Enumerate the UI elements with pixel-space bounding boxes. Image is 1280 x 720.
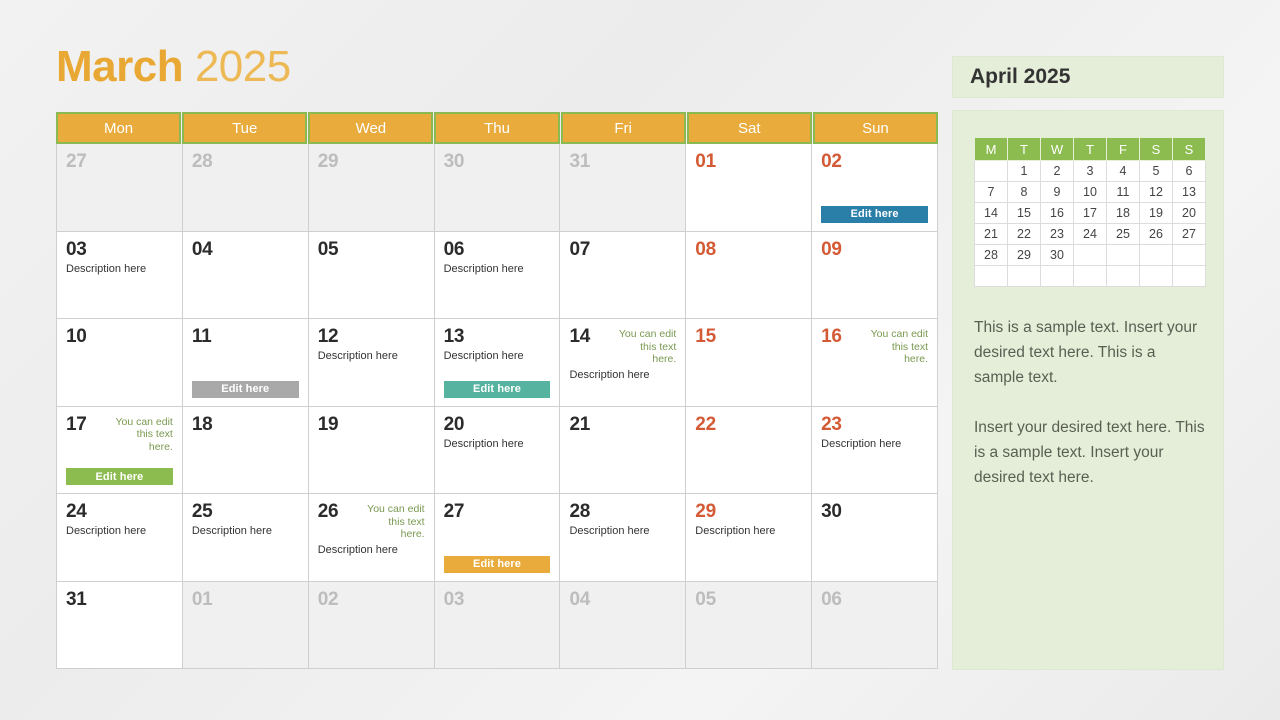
day-cell[interactable]: 27 [57,144,183,231]
day-cell[interactable]: 28 [183,144,309,231]
mini-calendar-row: 78910111213 [975,182,1206,203]
day-cell-top: 04 [569,590,676,610]
mini-day-cell[interactable]: 18 [1107,203,1140,224]
day-cell[interactable]: 05 [686,582,812,669]
calendar-week-row: 17You can edit this text here.Edit here1… [57,407,938,495]
day-cell-top: 09 [821,240,928,260]
mini-day-cell[interactable]: 25 [1107,224,1140,245]
day-number: 22 [695,415,716,435]
day-cell[interactable]: 06 [812,582,938,669]
day-cell-top: 02 [318,590,425,610]
day-number: 28 [569,502,590,522]
mini-day-cell[interactable]: 8 [1008,182,1041,203]
day-cell-top: 22 [695,415,802,435]
day-number: 11 [192,327,212,347]
day-cell[interactable]: 21 [560,407,686,494]
day-cell-top: 06 [821,590,928,610]
day-number: 19 [318,415,339,435]
day-cell[interactable]: 24Description here [57,494,183,581]
mini-day-cell[interactable]: 11 [1107,182,1140,203]
day-number: 26 [318,502,339,522]
day-cell[interactable]: 05 [309,232,435,319]
day-cell[interactable]: 01 [183,582,309,669]
day-cell[interactable]: 01 [686,144,812,231]
day-cell-top: 02 [821,152,928,172]
day-cell-top: 25 [192,502,299,522]
day-cell-top: 17You can edit this text here. [66,415,173,454]
day-cell-top: 21 [569,415,676,435]
day-cell[interactable]: 02 [309,582,435,669]
day-number: 30 [444,152,465,172]
day-cell-top: 27 [66,152,173,172]
mini-day-cell[interactable]: 21 [975,224,1008,245]
day-cell-top: 18 [192,415,299,435]
day-cell-top: 03 [444,590,551,610]
day-cell-top: 19 [318,415,425,435]
weekday-header-sat: Sat [687,112,812,144]
mini-weekday-header: S [1173,138,1206,161]
day-description[interactable]: Description here [192,524,299,538]
day-cell[interactable]: 18 [183,407,309,494]
day-number: 30 [821,502,842,522]
day-number: 01 [695,152,716,172]
mini-day-cell[interactable] [1140,245,1173,266]
title-year [183,42,195,91]
weekday-header-tue: Tue [182,112,307,144]
day-note-text[interactable]: You can edit this text here. [866,328,928,366]
day-cell[interactable]: 15 [686,319,812,406]
day-description[interactable]: Description here [821,437,928,451]
day-number: 09 [821,240,842,260]
mini-day-cell[interactable]: 5 [1140,161,1173,182]
mini-calendar-row: 282930 [975,245,1206,266]
mini-calendar-row: 21222324252627 [975,224,1206,245]
mini-weekday-header: F [1107,138,1140,161]
mini-day-cell[interactable]: 19 [1140,203,1173,224]
day-note-text[interactable]: You can edit this text here. [363,503,425,541]
day-cell[interactable]: 10 [57,319,183,406]
day-number: 05 [695,590,716,610]
side-panel-header: April 2025 [952,56,1224,98]
day-cell-top: 29 [695,502,802,522]
day-cell[interactable]: 03Description here [57,232,183,319]
day-number: 18 [192,415,213,435]
day-description[interactable]: Description here [444,262,551,276]
day-number: 12 [318,327,339,347]
day-cell[interactable]: 20Description here [435,407,561,494]
day-number: 08 [695,240,716,260]
edit-here-button[interactable]: Edit here [821,206,928,223]
day-cell-top: 11 [192,327,299,347]
day-number: 27 [444,502,465,522]
day-cell-top: 12 [318,327,425,347]
mini-day-cell[interactable]: 20 [1173,203,1206,224]
mini-day-cell[interactable]: 24 [1074,224,1107,245]
day-cell[interactable]: 17You can edit this text here.Edit here [57,407,183,494]
mini-day-cell[interactable]: 16 [1041,203,1074,224]
mini-day-cell[interactable]: 1 [1008,161,1041,182]
day-number: 17 [66,415,87,435]
day-cell[interactable]: 23Description here [812,407,938,494]
mini-day-cell[interactable]: 13 [1173,182,1206,203]
day-number: 31 [66,590,87,610]
day-description[interactable]: Description here [66,524,173,538]
day-cell-top: 30 [821,502,928,522]
mini-day-cell[interactable]: 3 [1074,161,1107,182]
day-number: 25 [192,502,213,522]
day-description[interactable]: Description here [444,437,551,451]
day-cell[interactable]: 14You can edit this text here.Descriptio… [560,319,686,406]
day-number: 24 [66,502,87,522]
mini-day-cell[interactable]: 17 [1074,203,1107,224]
weekday-header-row: MonTueWedThuFriSatSun [56,112,938,144]
day-number: 31 [569,152,590,172]
mini-weekday-header: S [1140,138,1173,161]
calendar-week-row: 24Description here25Description here26Yo… [57,494,938,582]
day-number: 04 [569,590,590,610]
day-cell-top: 08 [695,240,802,260]
day-cell[interactable]: 29Description here [686,494,812,581]
march-calendar: MonTueWedThuFriSatSun 27282930310102Edit… [56,112,938,669]
mini-day-cell[interactable] [1140,266,1173,287]
mini-day-cell[interactable] [1008,266,1041,287]
weekday-header-thu: Thu [434,112,559,144]
day-cell-top: 31 [569,152,676,172]
mini-day-cell[interactable]: 30 [1041,245,1074,266]
day-cell-top: 01 [192,590,299,610]
day-cell[interactable]: 04 [183,232,309,319]
day-number: 06 [821,590,842,610]
day-cell[interactable]: 30 [435,144,561,231]
title-year-value: 2025 [195,42,291,91]
day-cell-top: 30 [444,152,551,172]
side-panel-paragraph[interactable]: This is a sample text. Insert your desir… [974,315,1205,390]
mini-day-cell[interactable]: 27 [1173,224,1206,245]
day-number: 14 [569,327,590,347]
day-cell[interactable]: 09 [812,232,938,319]
day-cell-top: 20 [444,415,551,435]
mini-day-cell[interactable] [1107,245,1140,266]
day-cell[interactable]: 11Edit here [183,319,309,406]
mini-day-cell[interactable] [975,161,1008,182]
mini-day-cell[interactable]: 7 [975,182,1008,203]
day-cell[interactable]: 16You can edit this text here. [812,319,938,406]
day-cell-top: 16You can edit this text here. [821,327,928,366]
day-cell-top: 14You can edit this text here. [569,327,676,366]
day-cell-top: 13 [444,327,551,347]
day-number: 06 [444,240,465,260]
mini-weekday-header: T [1008,138,1041,161]
day-number: 02 [821,152,842,172]
day-number: 27 [66,152,87,172]
edit-here-button[interactable]: Edit here [444,556,551,573]
day-number: 28 [192,152,213,172]
mini-day-cell[interactable]: 15 [1008,203,1041,224]
day-cell[interactable]: 28Description here [560,494,686,581]
day-cell[interactable]: 26You can edit this text here.Descriptio… [309,494,435,581]
day-number: 21 [569,415,590,435]
mini-day-cell[interactable]: 12 [1140,182,1173,203]
weekday-header-mon: Mon [56,112,181,144]
day-cell[interactable]: 22 [686,407,812,494]
mini-day-cell[interactable]: 10 [1074,182,1107,203]
day-cell[interactable]: 25Description here [183,494,309,581]
day-cell-top: 31 [66,590,173,610]
day-cell[interactable]: 30 [812,494,938,581]
mini-day-cell[interactable] [1107,266,1140,287]
day-description[interactable]: Description here [695,524,802,538]
day-cell-top: 03 [66,240,173,260]
title-month: March [56,42,183,91]
day-cell[interactable]: 03 [435,582,561,669]
day-cell[interactable]: 19 [309,407,435,494]
day-note-text[interactable]: You can edit this text here. [111,416,173,454]
edit-here-button[interactable]: Edit here [66,468,173,485]
day-cell-top: 01 [695,152,802,172]
day-number: 03 [444,590,465,610]
mini-calendar-row: 123456 [975,161,1206,182]
day-cell-top: 28 [192,152,299,172]
side-panel-text: This is a sample text. Insert your desir… [974,315,1205,490]
day-cell-top: 15 [695,327,802,347]
day-description[interactable]: Description here [569,524,676,538]
day-cell-top: 10 [66,327,173,347]
day-number: 29 [318,152,339,172]
mini-day-cell[interactable]: 26 [1140,224,1173,245]
mini-calendar-body: 1234567891011121314151617181920212223242… [975,161,1206,287]
calendar-week-row: 1011Edit here12Description here13Descrip… [57,319,938,407]
mini-day-cell[interactable] [975,266,1008,287]
day-number: 01 [192,590,213,610]
day-cell-top: 04 [192,240,299,260]
day-cell-top: 27 [444,502,551,522]
mini-day-cell[interactable]: 6 [1173,161,1206,182]
mini-day-cell[interactable] [1041,266,1074,287]
mini-day-cell[interactable]: 28 [975,245,1008,266]
day-number: 23 [821,415,842,435]
side-panel-body: MTWTFSS 12345678910111213141516171819202… [952,110,1224,670]
day-cell[interactable]: 13Description hereEdit here [435,319,561,406]
calendar-grid: 27282930310102Edit here03Description her… [56,144,938,669]
day-number: 20 [444,415,465,435]
day-cell[interactable]: 04 [560,582,686,669]
day-cell[interactable]: 07 [560,232,686,319]
mini-day-cell[interactable]: 23 [1041,224,1074,245]
mini-weekday-header: T [1074,138,1107,161]
mini-calendar-row [975,266,1206,287]
mini-day-cell[interactable]: 29 [1008,245,1041,266]
mini-day-cell[interactable]: 2 [1041,161,1074,182]
calendar-week-row: 31010203040506 [57,582,938,670]
weekday-header-sun: Sun [813,112,938,144]
day-cell-top: 29 [318,152,425,172]
weekday-header-wed: Wed [308,112,433,144]
april-mini-calendar: MTWTFSS 12345678910111213141516171819202… [974,137,1206,287]
day-number: 04 [192,240,213,260]
mini-day-cell[interactable] [1074,266,1107,287]
mini-day-cell[interactable]: 14 [975,203,1008,224]
day-cell-top: 23 [821,415,928,435]
day-cell[interactable]: 31 [57,582,183,669]
day-number: 13 [444,327,465,347]
day-cell[interactable]: 02Edit here [812,144,938,231]
mini-calendar-row: 14151617181920 [975,203,1206,224]
day-cell[interactable]: 08 [686,232,812,319]
mini-day-cell[interactable]: 22 [1008,224,1041,245]
day-description[interactable]: Description here [318,349,425,363]
side-panel-title: April 2025 [970,65,1070,89]
day-cell-top: 06 [444,240,551,260]
day-description[interactable]: Description here [444,349,551,363]
weekday-header-fri: Fri [561,112,686,144]
side-panel-paragraph[interactable]: Insert your desired text here. This is a… [974,415,1205,490]
calendar-week-row: 27282930310102Edit here [57,144,938,232]
day-cell-top: 26You can edit this text here. [318,502,425,541]
day-number: 07 [569,240,590,260]
day-cell[interactable]: 29 [309,144,435,231]
edit-here-button[interactable]: Edit here [444,381,551,398]
mini-weekday-header-row: MTWTFSS [975,138,1206,161]
day-cell[interactable]: 06Description here [435,232,561,319]
mini-weekday-header: M [975,138,1008,161]
mini-day-cell[interactable] [1173,245,1206,266]
mini-weekday-header: W [1041,138,1074,161]
day-number: 10 [66,327,87,347]
day-cell-top: 05 [695,590,802,610]
day-cell[interactable]: 12Description here [309,319,435,406]
day-cell[interactable]: 27Edit here [435,494,561,581]
day-number: 15 [695,327,716,347]
day-cell[interactable]: 31 [560,144,686,231]
calendar-week-row: 03Description here040506Description here… [57,232,938,320]
day-number: 05 [318,240,339,260]
day-description[interactable]: Description here [569,368,676,382]
day-number: 16 [821,327,842,347]
mini-day-cell[interactable]: 9 [1041,182,1074,203]
day-number: 02 [318,590,339,610]
mini-day-cell[interactable]: 4 [1107,161,1140,182]
day-cell-top: 05 [318,240,425,260]
day-number: 29 [695,502,716,522]
mini-day-cell[interactable] [1074,245,1107,266]
day-cell-top: 07 [569,240,676,260]
mini-day-cell[interactable] [1173,266,1206,287]
day-description[interactable]: Description here [318,543,425,557]
day-cell-top: 28 [569,502,676,522]
edit-here-button[interactable]: Edit here [192,381,299,398]
day-cell-top: 24 [66,502,173,522]
day-note-text[interactable]: You can edit this text here. [614,328,676,366]
day-number: 03 [66,240,87,260]
day-description[interactable]: Description here [66,262,173,276]
page-title: March 2025 [56,41,291,93]
